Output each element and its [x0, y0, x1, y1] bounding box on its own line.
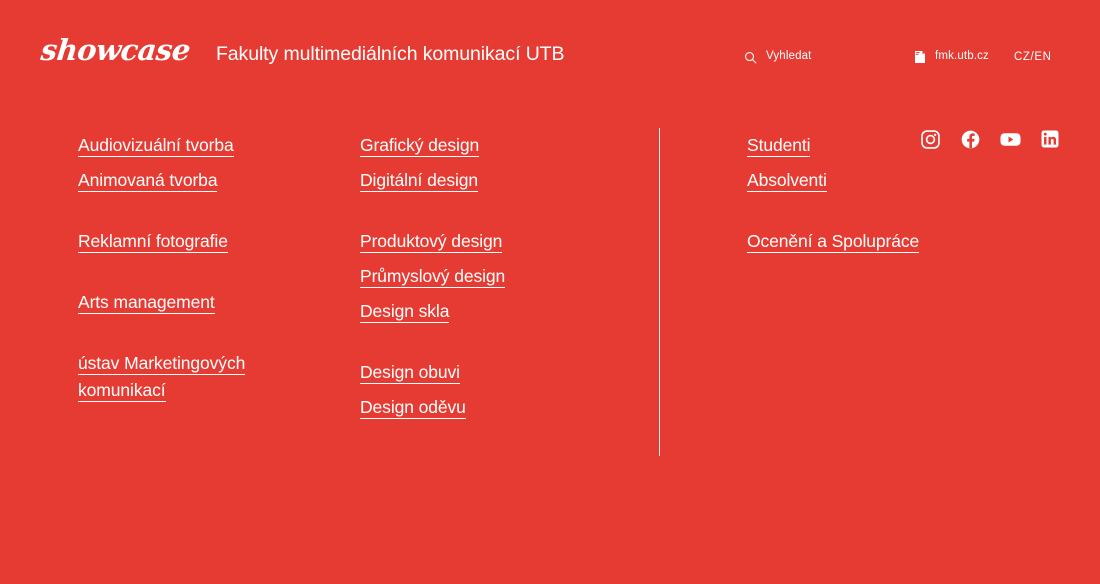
- menu-column-3: Studenti Absolventi Ocenění a Spolupráce: [747, 132, 1007, 255]
- youtube-icon: [1000, 130, 1021, 149]
- page-title: Fakulty multimediálních komunikací UTB: [216, 45, 564, 65]
- linkedin-link[interactable]: [1040, 129, 1060, 149]
- menu-group: Reklamní fotografie: [78, 228, 338, 255]
- menu-group: Grafický design Digitální design: [360, 132, 630, 194]
- menu-item-label: Animovaná tvorba: [78, 170, 217, 192]
- search-label: Vyhledat: [766, 51, 812, 63]
- menu-item-design-odevu[interactable]: Design oděvu: [360, 394, 466, 421]
- menu-item-prumyslovy-design[interactable]: Průmyslový design: [360, 263, 505, 290]
- menu-item-label: Průmyslový design: [360, 266, 505, 288]
- menu-column-2: Grafický design Digitální design Produkt…: [360, 132, 630, 421]
- youtube-link[interactable]: [1000, 129, 1020, 149]
- facebook-link[interactable]: [960, 129, 980, 149]
- search-button[interactable]: Vyhledat: [744, 51, 914, 64]
- menu-item-label: Design obuvi: [360, 362, 460, 384]
- menu-group: Produktový design Průmyslový design Desi…: [360, 228, 630, 325]
- menu-item-label: Arts management: [78, 292, 215, 314]
- instagram-icon: [921, 130, 940, 149]
- external-site-label: fmk.utb.cz: [935, 51, 989, 63]
- menu-item-label: Design skla: [360, 301, 449, 323]
- menu-item-oceneni-a-spoluprace[interactable]: Ocenění a Spolupráce: [747, 228, 919, 255]
- showcase-logo[interactable]: showcase: [39, 36, 193, 65]
- menu-item-produktovy-design[interactable]: Produktový design: [360, 228, 502, 255]
- facebook-icon: [961, 130, 980, 149]
- instagram-link[interactable]: [920, 129, 940, 149]
- menu-item-design-obuvi[interactable]: Design obuvi: [360, 359, 460, 386]
- linkedin-icon: [1041, 130, 1059, 148]
- menu-item-ustav-marketingovych-komunikaci[interactable]: ústav Marketingových komunikací: [78, 350, 278, 404]
- book-icon: [914, 50, 926, 64]
- language-switch[interactable]: CZ/EN: [1014, 51, 1052, 63]
- external-site-link[interactable]: fmk.utb.cz: [914, 50, 1014, 64]
- menu-item-label: ústav Marketingových komunikací: [78, 353, 245, 402]
- menu-item-label: Studenti: [747, 135, 810, 157]
- menu-item-label: Audiovizuální tvorba: [78, 135, 234, 157]
- menu-column-1: Audiovizuální tvorba Animovaná tvorba Re…: [78, 132, 338, 404]
- menu-item-label: Reklamní fotografie: [78, 231, 228, 253]
- menu-group: Design obuvi Design oděvu: [360, 359, 630, 421]
- menu-item-label: Ocenění a Spolupráce: [747, 231, 919, 253]
- menu-item-label: Grafický design: [360, 135, 479, 157]
- menu-item-absolventi[interactable]: Absolventi: [747, 167, 827, 194]
- search-icon: [744, 51, 757, 64]
- menu-item-graficky-design[interactable]: Grafický design: [360, 132, 479, 159]
- menu-item-animovana-tvorba[interactable]: Animovaná tvorba: [78, 167, 217, 194]
- page-root: showcase Fakulty multimediálních komunik…: [0, 0, 1100, 584]
- menu-group: Ocenění a Spolupráce: [747, 228, 1007, 255]
- menu-item-design-skla[interactable]: Design skla: [360, 298, 449, 325]
- main-menu: Audiovizuální tvorba Animovaná tvorba Re…: [0, 132, 1100, 462]
- menu-group: ústav Marketingových komunikací: [78, 350, 338, 404]
- menu-item-audiovizualni-tvorba[interactable]: Audiovizuální tvorba: [78, 132, 234, 159]
- header-tools: Vyhledat fmk.utb.cz CZ/EN: [744, 47, 1052, 67]
- menu-item-studenti[interactable]: Studenti: [747, 132, 810, 159]
- menu-group: Arts management: [78, 289, 338, 316]
- menu-item-arts-management[interactable]: Arts management: [78, 289, 215, 316]
- menu-item-label: Absolventi: [747, 170, 827, 192]
- menu-item-label: Design oděvu: [360, 397, 466, 419]
- menu-item-label: Produktový design: [360, 231, 502, 253]
- social-links: [920, 129, 1060, 149]
- site-header: showcase Fakulty multimediálních komunik…: [0, 0, 1100, 112]
- brand[interactable]: showcase Fakulty multimediálních komunik…: [41, 36, 564, 65]
- menu-item-reklamni-fotografie[interactable]: Reklamní fotografie: [78, 228, 228, 255]
- menu-group: Audiovizuální tvorba Animovaná tvorba: [78, 132, 338, 194]
- menu-item-digitalni-design[interactable]: Digitální design: [360, 167, 478, 194]
- menu-item-label: Digitální design: [360, 170, 478, 192]
